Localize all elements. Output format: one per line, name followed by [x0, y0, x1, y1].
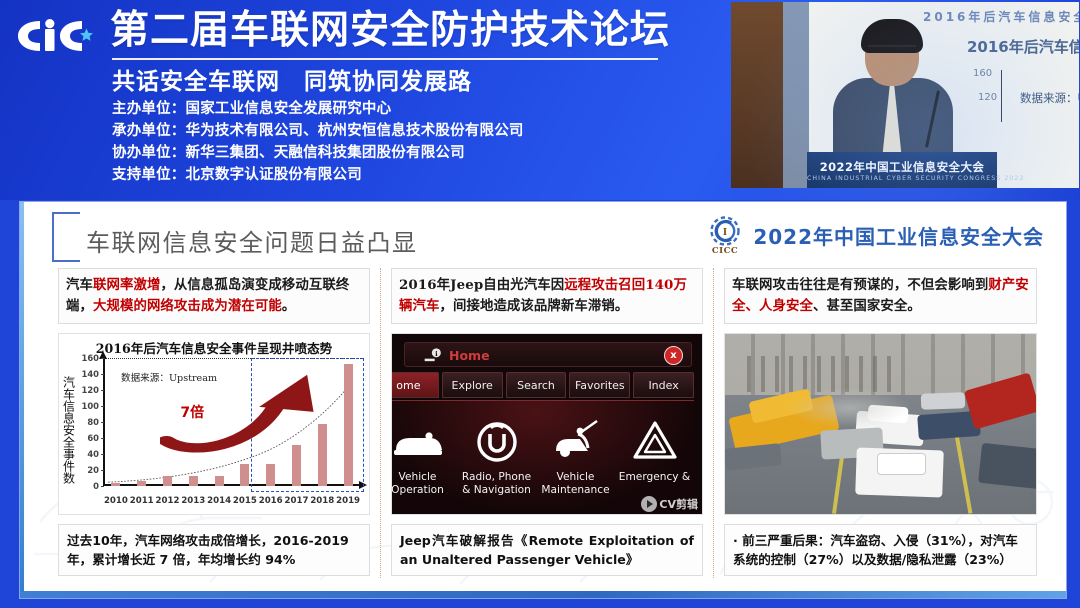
menu-label-vehicle-operation: VehicleOperation	[391, 471, 444, 497]
conference-badge-text: 2022年中国工业信息安全大会	[753, 221, 1044, 250]
callout-text-1: 汽车联网率激增，从信息孤岛演变成移动互联终端，大规模的网络攻击成为潜在可能。	[58, 268, 370, 324]
podium-title-en: CHINA INDUSTRIAL CYBER SECURITY CONGRESS…	[807, 175, 997, 182]
chart-y-tick: 60	[87, 433, 99, 443]
speaker-suit	[833, 78, 953, 170]
chart-bar	[344, 364, 353, 486]
speaker-shirt	[873, 82, 911, 166]
slide-columns: 汽车联网率激增，从信息孤岛演变成移动互联终端，大规模的网络攻击成为潜在可能。 2…	[48, 268, 1048, 578]
callout-2-part: ，间接地造成该品牌新车滞销。	[439, 298, 628, 314]
chart-y-tick: 0	[93, 481, 99, 491]
chart-bar-cell	[258, 358, 284, 486]
slide-title: 车联网信息安全问题日益凸显	[86, 223, 418, 262]
banner-main-title: 第二届车联网安全防护技术论坛	[110, 6, 670, 56]
event-banner: 第二届车联网安全防护技术论坛 共话安全车联网 同筑协同发展路 主办单位：国家工业…	[0, 0, 1080, 200]
column-consequences: 车联网攻击往往是有预谋的，不但会影响到财产安全、人身安全、甚至国家安全。	[714, 268, 1047, 578]
speaker-head	[865, 24, 919, 86]
svg-text:CICC: CICC	[712, 246, 738, 256]
chart-bar	[215, 476, 224, 486]
chart-x-tick-label: 2012	[155, 496, 181, 506]
slide-header: 车联网信息安全问题日益凸显	[52, 212, 418, 262]
svg-text:I: I	[723, 228, 727, 238]
podium: 2022年中国工业信息安全大会 CHINA INDUSTRIAL CYBER S…	[807, 152, 997, 188]
speaker-hair	[861, 19, 923, 53]
uconnect-logo-icon: i	[423, 347, 443, 362]
close-icon[interactable]: x	[664, 346, 683, 365]
infotainment-tabs: omeExploreSearchFavoritesIndex	[391, 372, 694, 398]
callout-3-part: 、甚至国家安全。	[813, 299, 921, 314]
chart-bar	[163, 476, 172, 486]
title-underline	[112, 58, 658, 60]
warning-triangle-icon	[632, 411, 678, 469]
organizer-line: 支持单位：北京数字认证股份有限公司	[112, 164, 524, 186]
video-slide-top-text: 2016年后汽车信息安全事件	[923, 8, 1079, 25]
column-jeep-case: 2016年Jeep自由光汽车因远程攻击召回140万辆汽车，间接地造成该品牌新车滞…	[381, 268, 714, 578]
jeep-infotainment-screenshot: i Home x omeExploreSearchFavoritesIndex	[391, 333, 703, 515]
organizer-line: 承办单位：华为技术有限公司、杭州安恒信息技术股份有限公司	[112, 120, 524, 142]
video-slide-axis-mid: 120	[978, 92, 997, 103]
banner-title-block: 第二届车联网安全防护技术论坛 共话安全车联网 同筑协同发展路	[110, 6, 670, 98]
traffic-crash-photo	[724, 333, 1037, 515]
conference-badge: I CICC 2022年中国工业信息安全大会	[705, 214, 1044, 256]
chart-bar	[111, 483, 120, 486]
crashed-car-lightgrey	[921, 393, 965, 411]
callout-1-part: 汽车	[66, 278, 93, 293]
video-slide-chart-title: 2016年后汽车信	[967, 36, 1079, 57]
photo-dust-cloud	[787, 388, 911, 428]
video-slide-source: 数据来源：Upst	[1020, 90, 1079, 106]
chart-bar	[137, 481, 146, 486]
chart-annotation-multiplier: 7倍	[180, 402, 204, 422]
callout-text-3: 车联网攻击往往是有预谋的，不但会影响到财产安全、人身安全、甚至国家安全。	[724, 268, 1037, 324]
security-incident-chart: 2016年后汽车信息安全事件呈现井喷态势 汽车信息安全事件数 020406080…	[58, 333, 370, 515]
chart-bar	[318, 424, 327, 486]
chart-y-tick: 160	[82, 353, 99, 363]
chart-bar	[292, 445, 301, 486]
caption-consequences: · 前三严重后果：汽车盗窃、入侵（31%），对汽车系统的控制（27%）以及数据/…	[724, 524, 1037, 576]
chart-x-tick-label: 2017	[284, 496, 310, 506]
car-service-icon	[550, 411, 602, 469]
car-seat-icon	[392, 411, 444, 469]
title-bracket-decoration	[52, 212, 80, 262]
caption-statistics: 过去10年，汽车网络攻击成倍增长，2016-2019年，累计增长近 7 倍，年均…	[58, 524, 370, 576]
banner-sub-title: 共话安全车联网 同筑协同发展路	[110, 66, 670, 98]
menu-label-emergency: Emergency &	[619, 471, 690, 484]
infotainment-tab-explore[interactable]: Explore	[442, 372, 503, 398]
chart-y-tick: 80	[87, 417, 99, 427]
callout-1-highlight: 大规模的网络攻击成为潜在可能	[93, 299, 282, 314]
crashed-car-dark	[978, 442, 1037, 488]
infotainment-tab-ome[interactable]: ome	[391, 372, 439, 398]
callout-text-2: 2016年Jeep自由光汽车因远程攻击召回140万辆汽车，间接地造成该品牌新车滞…	[391, 268, 703, 324]
menu-item-radio-phone-navigation[interactable]: Radio, Phone& Navigation	[457, 411, 536, 504]
cicc-gear-logo-icon: I CICC	[705, 214, 745, 256]
callout-1-part: 。	[282, 299, 296, 314]
chart-bar	[240, 464, 249, 486]
caption-jeep-report: Jeep汽车破解报告《Remote Exploitation of an Una…	[391, 524, 703, 576]
video-wall-panel	[731, 2, 783, 188]
chart-x-tick-label: 2014	[206, 496, 232, 506]
chart-bar-cell	[335, 358, 361, 486]
chart-x-tick-label: 2011	[129, 496, 155, 506]
column-statistics: 汽车联网率激增，从信息孤岛演变成移动互联终端，大规模的网络攻击成为潜在可能。 2…	[48, 268, 381, 578]
chart-y-tick: 100	[82, 401, 99, 411]
slide-left-accent	[20, 202, 24, 598]
infotainment-tab-search[interactable]: Search	[506, 372, 567, 398]
chart-bar-cell	[284, 358, 310, 486]
menu-label-radio-phone-navigation: Radio, Phone& Navigation	[462, 471, 531, 497]
chart-bar	[266, 464, 275, 486]
chart-y-tick: 140	[82, 369, 99, 379]
video-projected-slide: 2016年后汽车信息安全事件 2016年后汽车信 160 120 数据来源：Up…	[773, 2, 1079, 188]
infotainment-menu: VehicleOperation R	[391, 400, 694, 510]
chart-y-tick: 120	[82, 385, 99, 395]
chart-y-axis-label: 汽车信息安全事件数	[61, 360, 77, 500]
menu-item-emergency[interactable]: Emergency &	[615, 411, 694, 504]
speaker-glasses	[868, 45, 916, 57]
crashed-car-white-2-roof	[877, 453, 926, 475]
menu-item-vehicle-maintenance[interactable]: VehicleMaintenance	[536, 411, 615, 504]
podium-title-cn: 2022年中国工业信息安全大会	[807, 159, 997, 175]
speaker-figure	[827, 24, 959, 164]
infotainment-tab-index[interactable]: Index	[633, 372, 694, 398]
play-icon	[641, 496, 657, 512]
chart-source-note: 数据来源：Upstream	[121, 370, 217, 384]
chart-x-tick-label: 2015	[232, 496, 258, 506]
chart-x-tick-label: 2010	[103, 496, 129, 506]
presentation-slide: 车联网信息安全问题日益凸显 I CICC 2022年中国工业信息安全大会 汽车联…	[20, 202, 1066, 598]
menu-item-vehicle-operation[interactable]: VehicleOperation	[391, 411, 457, 504]
menu-label-vehicle-maintenance: VehicleMaintenance	[541, 471, 609, 497]
photo-arcade-arches	[737, 356, 899, 392]
chart-x-tick-label: 2018	[309, 496, 335, 506]
callout-3-part: 车联网攻击往往是有预谋的，不但会影响到	[732, 278, 988, 293]
video-watermark: CV剪辑	[641, 496, 698, 512]
watermark-text: CV剪辑	[659, 496, 698, 512]
organizer-list: 主办单位：国家工业信息安全发展研究中心 承办单位：华为技术有限公司、杭州安恒信息…	[112, 98, 524, 186]
cic-logo	[14, 12, 106, 60]
chart-y-tick: 40	[87, 449, 99, 459]
chart-bar	[189, 476, 198, 486]
infotainment-grid: VehicleOperation R	[391, 411, 694, 504]
chart-x-tick-label: 2016	[258, 496, 284, 506]
infotainment-tab-favorites[interactable]: Favorites	[569, 372, 630, 398]
speaker-video-thumbnail[interactable]: 2016年后汽车信息安全事件 2016年后汽车信 160 120 数据来源：Up…	[731, 2, 1079, 188]
callout-2-part: 2016年Jeep自由光汽车因	[399, 277, 564, 293]
uconnect-icon	[474, 411, 520, 469]
chart-x-tick-labels: 2010201120122013201420152016201720182019	[103, 496, 361, 506]
slide-screenshot: 第二届车联网安全防护技术论坛 共话安全车联网 同筑协同发展路 主办单位：国家工业…	[0, 0, 1080, 608]
chart-bar-cell	[309, 358, 335, 486]
infotainment-title-bar: i Home x	[404, 342, 692, 367]
chart-x-tick-label: 2019	[335, 496, 361, 506]
video-slide-axis-line	[1001, 70, 1002, 122]
chart-x-tick-label: 2013	[180, 496, 206, 506]
organizer-line: 协办单位：新华三集团、天融信科技集团股份有限公司	[112, 142, 524, 164]
microphone-icon	[925, 90, 940, 147]
chart-bar-cell	[232, 358, 258, 486]
video-slide-axis-top: 160	[973, 68, 992, 79]
video-wall-panel-2	[783, 2, 809, 188]
callout-1-highlight: 联网率激增	[93, 278, 160, 293]
slide-footer-bar	[20, 591, 1066, 598]
organizer-line: 主办单位：国家工业信息安全发展研究中心	[112, 98, 524, 120]
infotainment-home-label: Home	[449, 348, 490, 363]
chart-y-tick: 20	[87, 465, 99, 475]
